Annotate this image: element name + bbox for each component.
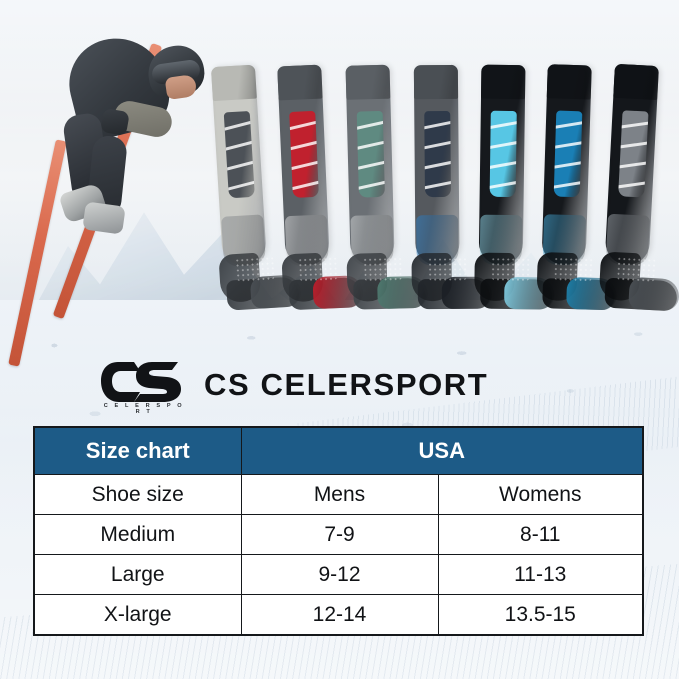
product-size-chart-image: C E L E R S P O R T CS CELERSPORT Size c… <box>0 0 679 679</box>
shin-stripe <box>289 138 319 152</box>
shin-stripe <box>554 159 583 170</box>
shin-stripe <box>357 118 385 131</box>
sock-cuff <box>414 65 458 99</box>
brand-name: CS CELERSPORT <box>204 367 488 403</box>
cell-mens: 9-12 <box>241 555 438 595</box>
sock-grip-dots <box>298 256 339 282</box>
sock-item <box>414 65 474 313</box>
cell-size-label: Medium <box>34 515 241 555</box>
sock-shin-panel <box>357 111 385 198</box>
sock-cuff <box>613 64 659 100</box>
cell-womens: 13.5-15 <box>438 595 643 636</box>
sock-shin-panel <box>490 111 517 197</box>
cell-womens: Womens <box>438 475 643 515</box>
sock-cuff <box>481 65 525 100</box>
sock-item <box>346 64 410 313</box>
table-row: X-large12-1413.5-15 <box>34 595 643 636</box>
sock-grip-dots <box>235 256 276 282</box>
sock-cuff <box>346 65 391 100</box>
shin-stripe <box>618 180 648 190</box>
skier-face <box>165 74 198 100</box>
header-size-chart: Size chart <box>34 427 241 475</box>
monogram-subtext: C E L E R S P O R T <box>102 403 186 415</box>
shin-stripe <box>490 119 517 130</box>
cell-size-label: Shoe size <box>34 475 241 515</box>
sock-grip-dots <box>363 256 404 281</box>
brand-logo-row: C E L E R S P O R T CS CELERSPORT <box>100 356 570 414</box>
sock-grip-dots <box>428 257 468 281</box>
shin-stripe <box>224 177 255 192</box>
shin-stripe <box>224 157 255 172</box>
skier-glove <box>100 108 130 136</box>
sock-cuff <box>277 65 322 101</box>
sock-shin-panel <box>618 110 648 197</box>
cell-size-label: Large <box>34 555 241 595</box>
sock-item <box>478 65 539 314</box>
sock-grip-dots <box>553 256 594 281</box>
sock-cuff <box>211 65 257 102</box>
shin-stripe <box>289 158 319 172</box>
skier-figure <box>18 18 233 343</box>
sock-grip-dots <box>616 256 657 282</box>
sock-item <box>211 64 284 315</box>
shin-stripe <box>554 139 583 150</box>
sock-shin-panel <box>424 111 451 197</box>
shin-stripe <box>224 138 255 153</box>
cell-womens: 11-13 <box>438 555 643 595</box>
shin-stripe <box>289 178 319 192</box>
sock-item <box>277 64 346 314</box>
sock-shin-panel <box>224 111 255 198</box>
table-row: Shoe sizeMensWomens <box>34 475 643 515</box>
shin-stripe <box>424 118 451 131</box>
shin-stripe <box>618 140 648 150</box>
table-row: Medium7-98-11 <box>34 515 643 555</box>
sock-shin-panel <box>554 111 583 198</box>
shin-stripe <box>224 118 255 133</box>
sock-item <box>540 64 606 314</box>
cell-mens: 12-14 <box>241 595 438 636</box>
shin-stripe <box>618 120 648 130</box>
cell-mens: 7-9 <box>241 515 438 555</box>
sock-grip-dots <box>490 257 530 282</box>
shin-stripe <box>490 139 517 150</box>
size-chart-table-wrapper: Size chart USA Shoe sizeMensWomensMedium… <box>33 426 642 621</box>
cell-womens: 8-11 <box>438 515 643 555</box>
sock-foot <box>598 251 679 311</box>
shin-stripe <box>554 119 583 130</box>
shin-stripe <box>554 179 583 190</box>
shin-stripe <box>490 159 517 170</box>
shin-stripe <box>618 160 648 170</box>
cs-monogram-icon: C E L E R S P O R T <box>100 360 186 410</box>
cell-mens: Mens <box>241 475 438 515</box>
table-header-row: Size chart USA <box>34 427 643 475</box>
ski-boot-back <box>82 201 126 234</box>
sock-toe <box>628 277 679 312</box>
shin-stripe <box>289 118 319 132</box>
shin-stripe <box>424 178 451 191</box>
table-row: Large9-1211-13 <box>34 555 643 595</box>
sock-item <box>602 64 673 315</box>
shin-stripe <box>357 178 385 191</box>
sock-cuff <box>547 64 592 99</box>
sock-shin-panel <box>289 111 319 198</box>
shin-stripe <box>424 158 451 171</box>
shin-stripe <box>490 179 517 190</box>
sock-lineup <box>222 58 662 313</box>
shin-stripe <box>424 138 451 151</box>
shin-stripe <box>357 138 385 151</box>
header-usa: USA <box>241 427 643 475</box>
cell-size-label: X-large <box>34 595 241 636</box>
size-chart-table: Size chart USA Shoe sizeMensWomensMedium… <box>33 426 644 636</box>
shin-stripe <box>357 158 385 171</box>
